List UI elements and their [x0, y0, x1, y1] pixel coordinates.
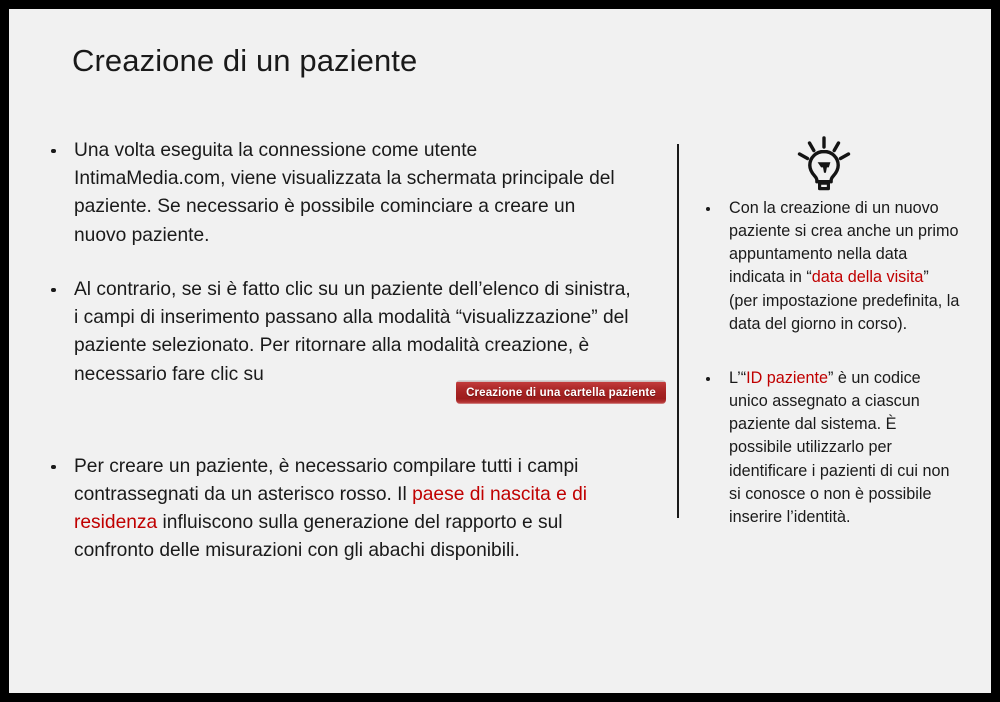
bullet-dot-icon — [51, 288, 56, 293]
lightbulb-icon — [795, 136, 853, 192]
slide-canvas: Creazione di un paziente Una volta esegu… — [9, 9, 991, 693]
create-patient-folder-button[interactable]: Creazione di una cartella paziente — [456, 380, 666, 404]
bullet-dot-icon — [51, 149, 56, 154]
page-title: Creazione di un paziente — [72, 42, 772, 79]
column-divider — [677, 144, 679, 518]
create-patient-folder-button-label: Creazione di una cartella paziente — [466, 387, 656, 399]
list-item: L’“ID paziente” è un codice unico assegn… — [699, 367, 961, 529]
tip-text-1-highlight: data della visita — [812, 268, 924, 286]
right-content-column: Con la creazione di un nuovo paziente si… — [699, 197, 961, 529]
slide-frame: Creazione di un paziente Una volta esegu… — [0, 0, 1000, 702]
tip-text-2-part1: L’“ — [729, 369, 746, 387]
tip-text-2-part2: ” è un codice unico assegnato a ciascun … — [729, 369, 949, 526]
bullet-dot-icon — [51, 465, 56, 470]
bullet-text-1: Una volta eseguita la connessione come u… — [74, 140, 615, 246]
bullet-dot-icon — [706, 207, 710, 211]
list-item: Al contrario, se si è fatto clic su un p… — [45, 276, 631, 389]
button-graphic-wrapper: Creazione di una cartella paziente — [456, 380, 666, 404]
list-item: Con la creazione di un nuovo paziente si… — [699, 197, 961, 336]
bullet-text-2: Al contrario, se si è fatto clic su un p… — [74, 279, 631, 385]
left-content-column: Una volta eseguita la connessione come u… — [45, 137, 631, 566]
list-item: Una volta eseguita la connessione come u… — [45, 137, 631, 250]
list-item: Per creare un paziente, è necessario com… — [45, 453, 631, 566]
bullet-dot-icon — [706, 377, 710, 381]
tip-text-2-highlight: ID paziente — [746, 369, 828, 387]
